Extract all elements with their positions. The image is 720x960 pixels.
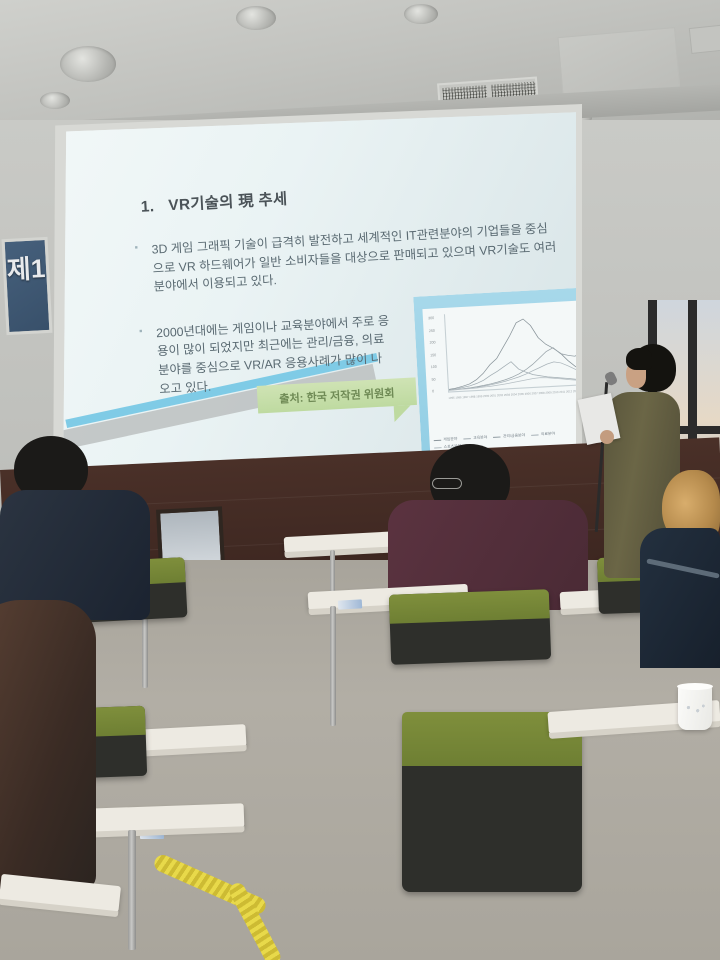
person-body — [0, 600, 96, 890]
presentation-slide: 1.VR기술의 現 추세 3D 게임 그래픽 기술이 급격히 발전하고 세계적인… — [60, 110, 576, 494]
chart-x-tick-label: 2008 — [538, 392, 544, 396]
room-sign-label: 제1 — [6, 248, 46, 287]
chart-legend-item: 관리/금융분야 — [493, 433, 525, 440]
chart-x-tick-label: 2012 — [566, 390, 572, 394]
ceiling-ac-unit — [689, 24, 720, 54]
chart-x-tick-label: 2002 — [497, 394, 503, 398]
chart-x-tick-label: 1995 — [448, 397, 454, 401]
source-callout-label: 출처: 한국 저작권 위원회 — [279, 384, 395, 406]
ceiling-downlight-icon — [236, 6, 276, 30]
chart-legend-swatch — [434, 447, 441, 448]
chart-y-tick-label: 250 — [429, 328, 435, 333]
chart-x-tick-label: 2013 — [573, 390, 576, 394]
chart-y-tick-label: 0 — [432, 389, 434, 393]
desk — [86, 803, 245, 832]
presenter-hair — [626, 348, 652, 370]
chart-x-tick-label: 2004 — [511, 393, 517, 397]
chart-plot-area: 300250200150100500 199519961997199819992… — [429, 307, 576, 394]
chart-legend-label: 의료분야 — [541, 431, 555, 437]
chart-legend-swatch — [531, 434, 538, 435]
room-sign: 제1 — [2, 237, 53, 335]
chart-legend-label: 교육분야 — [473, 435, 487, 441]
chart-x-tick-label: 2005 — [518, 393, 524, 397]
chart-x-tick-label: 2000 — [483, 395, 489, 399]
chart-lines — [429, 307, 576, 394]
chart-x-tick-label: 2011 — [559, 391, 565, 394]
chart-legend-item: 게임분야 — [434, 437, 458, 444]
classroom-photo: 제1 1.VR기술의 現 추세 3D 게임 그래픽 기술이 급격히 발전하고 세… — [0, 0, 720, 960]
chart-legend-swatch — [464, 438, 471, 439]
chart-y-tick-label: 300 — [428, 316, 434, 321]
glasses — [432, 478, 462, 489]
presenter-hand — [600, 430, 614, 444]
chart-x-tick-label: 2003 — [504, 394, 510, 398]
chart-y-tick-label: 150 — [430, 352, 436, 357]
ceiling-downlight-icon — [40, 92, 70, 109]
chart-legend-swatch — [494, 436, 501, 437]
chart-legend-label: 게임분야 — [443, 437, 457, 443]
chart-legend-item: 의료분야 — [531, 431, 555, 438]
chart-x-tick-label: 1999 — [476, 395, 482, 399]
chart-x-tick-label: 1997 — [462, 396, 468, 400]
chart-x-tick-label: 1996 — [455, 396, 461, 400]
desk-leg — [330, 606, 336, 726]
ceiling — [0, 0, 720, 132]
chart-legend-label: 관리/금융분야 — [503, 433, 525, 439]
paper-cup — [678, 686, 712, 730]
chart-x-tick-label: 2009 — [545, 391, 551, 395]
projection-screen: 1.VR기술의 現 추세 3D 게임 그래픽 기술이 급격히 발전하고 세계적인… — [60, 110, 576, 494]
slide-title-number: 1. — [140, 198, 168, 216]
desk-id-tag — [338, 599, 362, 609]
chart-x-tick-label: 2010 — [552, 391, 558, 395]
chart-y-tick-label: 200 — [429, 340, 435, 345]
desk-leg — [128, 830, 136, 950]
chart-legend-item: 교육분야 — [464, 435, 488, 442]
ceiling-downlight-icon — [404, 4, 438, 24]
chart-x-tick-label: 2006 — [525, 392, 531, 396]
chart-x-tick-label: 1998 — [469, 395, 475, 399]
ceiling-downlight-icon — [60, 46, 116, 82]
person-body — [640, 528, 720, 668]
chart-x-tick-label: 2007 — [532, 392, 538, 396]
chart-y-tick-label: 100 — [431, 365, 437, 370]
chart-x-tick-label: 2001 — [490, 394, 496, 398]
chart-y-tick-label: 50 — [431, 377, 435, 381]
chair — [389, 589, 551, 665]
chair — [402, 712, 582, 892]
chart-legend-swatch — [434, 440, 441, 441]
